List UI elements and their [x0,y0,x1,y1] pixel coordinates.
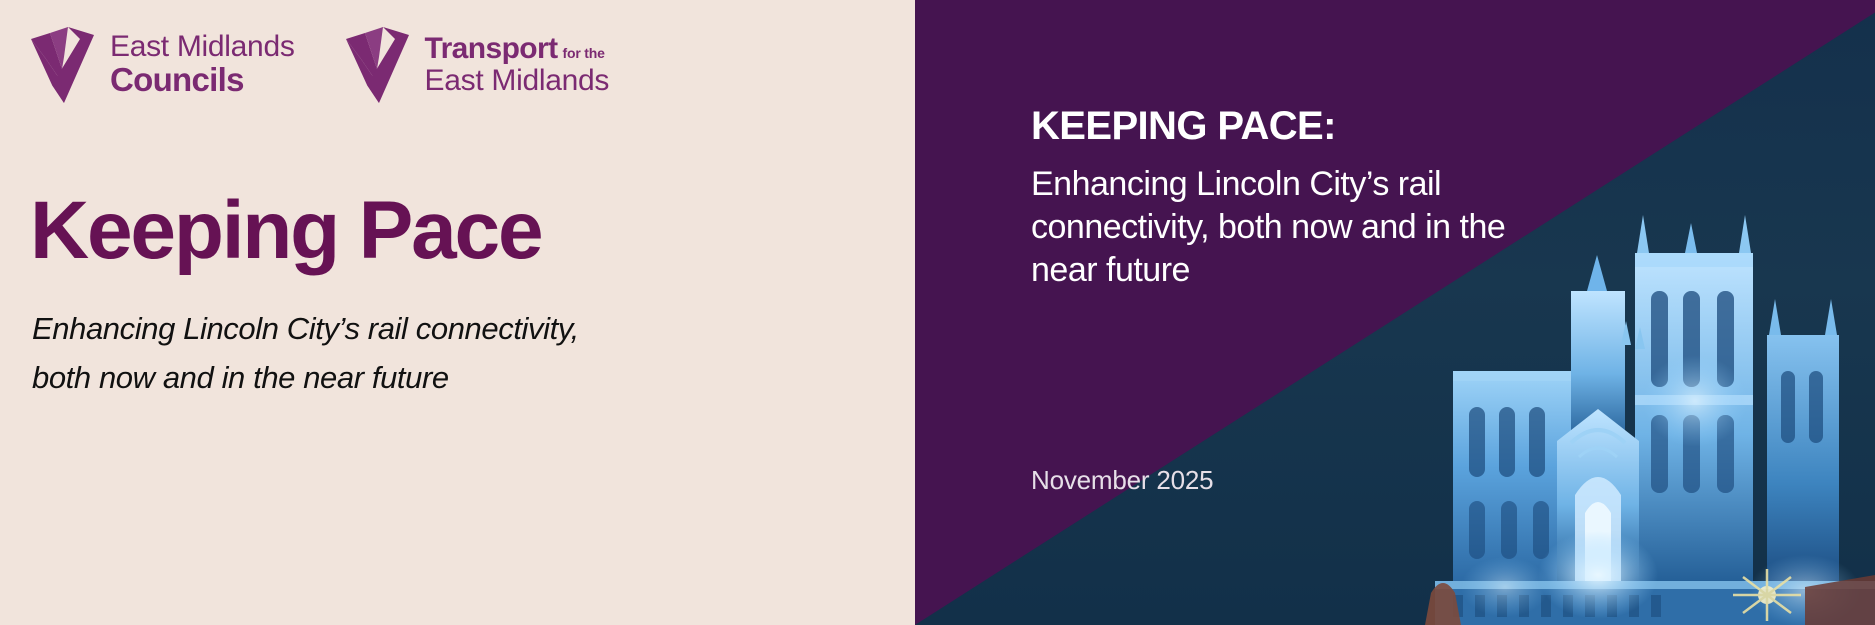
report-cover-panel: KEEPING PACE: Enhancing Lincoln City’s r… [915,0,1875,625]
tfem-line-bottom: East Midlands [425,65,610,97]
logo-row: East Midlands Councils Transport for the [28,25,609,105]
cover-heading: KEEPING PACE: [1031,104,1336,148]
left-panel: East Midlands Councils Transport for the [0,0,915,625]
tfem-line-top: Transport [425,34,558,65]
emc-line-bottom: Councils [110,63,295,98]
tfem-forthe: for the [563,45,605,61]
logo-transport-east-midlands[interactable]: Transport for the East Midlands [343,25,610,105]
logo-east-midlands-councils[interactable]: East Midlands Councils [28,25,295,105]
page-subtitle: Enhancing Lincoln City’s rail connectivi… [32,305,592,403]
page-title: Keeping Pace [30,188,541,274]
emc-line-top: East Midlands [110,32,295,63]
tfem-topline-wrap: Transport for the [425,34,610,65]
cover-text-content: KEEPING PACE: Enhancing Lincoln City’s r… [915,0,1875,625]
tfem-tick-icon [343,25,413,105]
cover-date: November 2025 [1031,465,1213,496]
emc-tick-icon [28,25,98,105]
emc-wordmark: East Midlands Councils [110,32,295,97]
tfem-wordmark: Transport for the East Midlands [425,34,610,96]
cover-subtitle: Enhancing Lincoln City’s rail connectivi… [1031,163,1571,293]
